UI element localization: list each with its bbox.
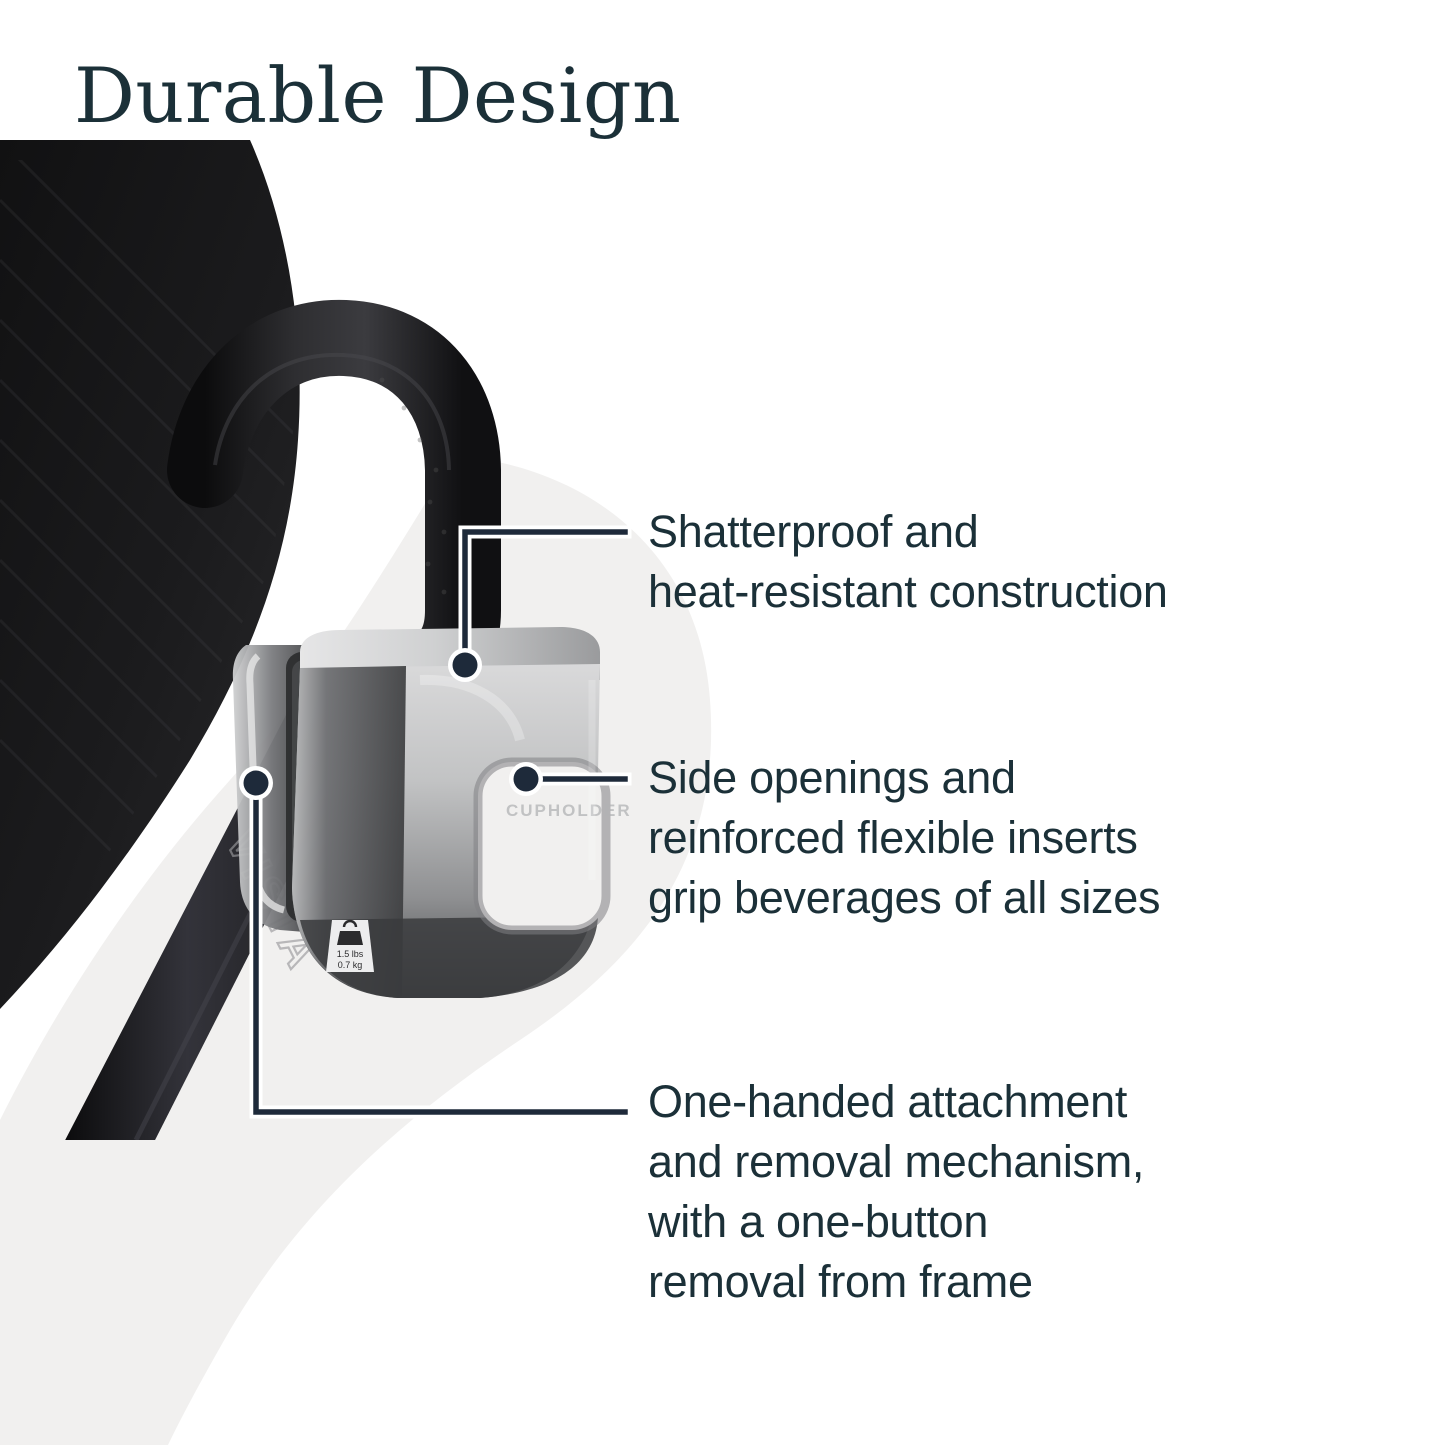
callout-2-line-3: grip beverages of all sizes: [648, 868, 1348, 928]
callout-3-line-4: removal from frame: [648, 1252, 1348, 1312]
callout-1-line-2: heat-resistant construction: [648, 562, 1348, 622]
callout-3-line-3: with a one-button: [648, 1192, 1348, 1252]
embossed-brand-text: CUPHOLDER: [506, 801, 632, 820]
callout-one-handed: One-handed attachment and removal mechan…: [648, 1072, 1348, 1312]
side-opening-cutout: [478, 762, 606, 930]
page-title: Durable Design: [74, 58, 681, 134]
callout-1-line-1: Shatterproof and: [648, 502, 1348, 562]
svg-text:1.5 lbs: 1.5 lbs: [337, 949, 364, 959]
infographic-page: Durable Design: [0, 0, 1445, 1445]
callout-2-line-2: reinforced flexible inserts: [648, 808, 1348, 868]
weight-limit-label: 1.5 lbs 0.7 kg: [326, 920, 374, 972]
callout-side-openings: Side openings and reinforced flexible in…: [648, 748, 1348, 928]
callout-shatterproof: Shatterproof and heat-resistant construc…: [648, 502, 1348, 622]
product-photo-stroller-cupholder: VISTA CUPHOLDER: [0, 140, 660, 1140]
callout-3-line-1: One-handed attachment: [648, 1072, 1348, 1132]
svg-text:0.7 kg: 0.7 kg: [338, 960, 363, 970]
callout-2-line-1: Side openings and: [648, 748, 1348, 808]
callout-3-line-2: and removal mechanism,: [648, 1132, 1348, 1192]
